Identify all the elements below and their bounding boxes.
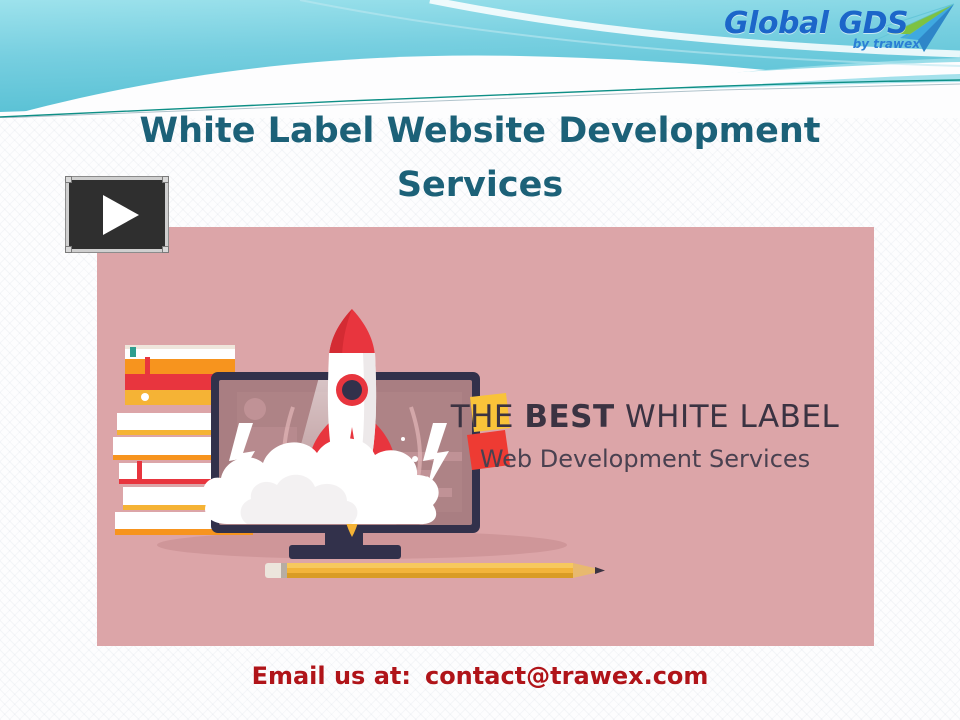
- picture-heading-emphasis: BEST: [524, 399, 614, 435]
- play-icon: [103, 195, 139, 235]
- picture-subheading: Web Development Services: [480, 445, 810, 473]
- contact-footer: Email us at:contact@trawex.com: [0, 662, 960, 690]
- slide-image: THE BEST WHITE LABEL Web Development Ser…: [97, 227, 874, 646]
- email-address[interactable]: contact@trawex.com: [425, 662, 708, 690]
- white-label-illustration: THE BEST WHITE LABEL Web Development Ser…: [97, 227, 874, 646]
- pencil: [265, 563, 605, 578]
- resize-handle-top-right[interactable]: [162, 176, 169, 183]
- logo-tagline-text: by trawex: [853, 37, 920, 51]
- resize-handle-bottom-left[interactable]: [65, 246, 72, 253]
- presentation-slide: Global GDS by trawex White Label Website…: [0, 0, 960, 720]
- resize-handle-bottom-right[interactable]: [162, 246, 169, 253]
- page-title: White Label Website Development Services: [70, 104, 890, 212]
- logo-brand-text: Global GDS: [724, 6, 908, 41]
- resize-handle-top-left[interactable]: [65, 176, 72, 183]
- brand-logo: Global GDS by trawex: [716, 4, 948, 56]
- picture-heading: THE BEST WHITE LABEL: [450, 399, 840, 435]
- picture-heading-suffix: WHITE LABEL: [615, 399, 840, 435]
- video-play-button[interactable]: [66, 177, 168, 252]
- email-label: Email us at:: [252, 662, 411, 690]
- picture-heading-prefix: THE: [450, 399, 525, 435]
